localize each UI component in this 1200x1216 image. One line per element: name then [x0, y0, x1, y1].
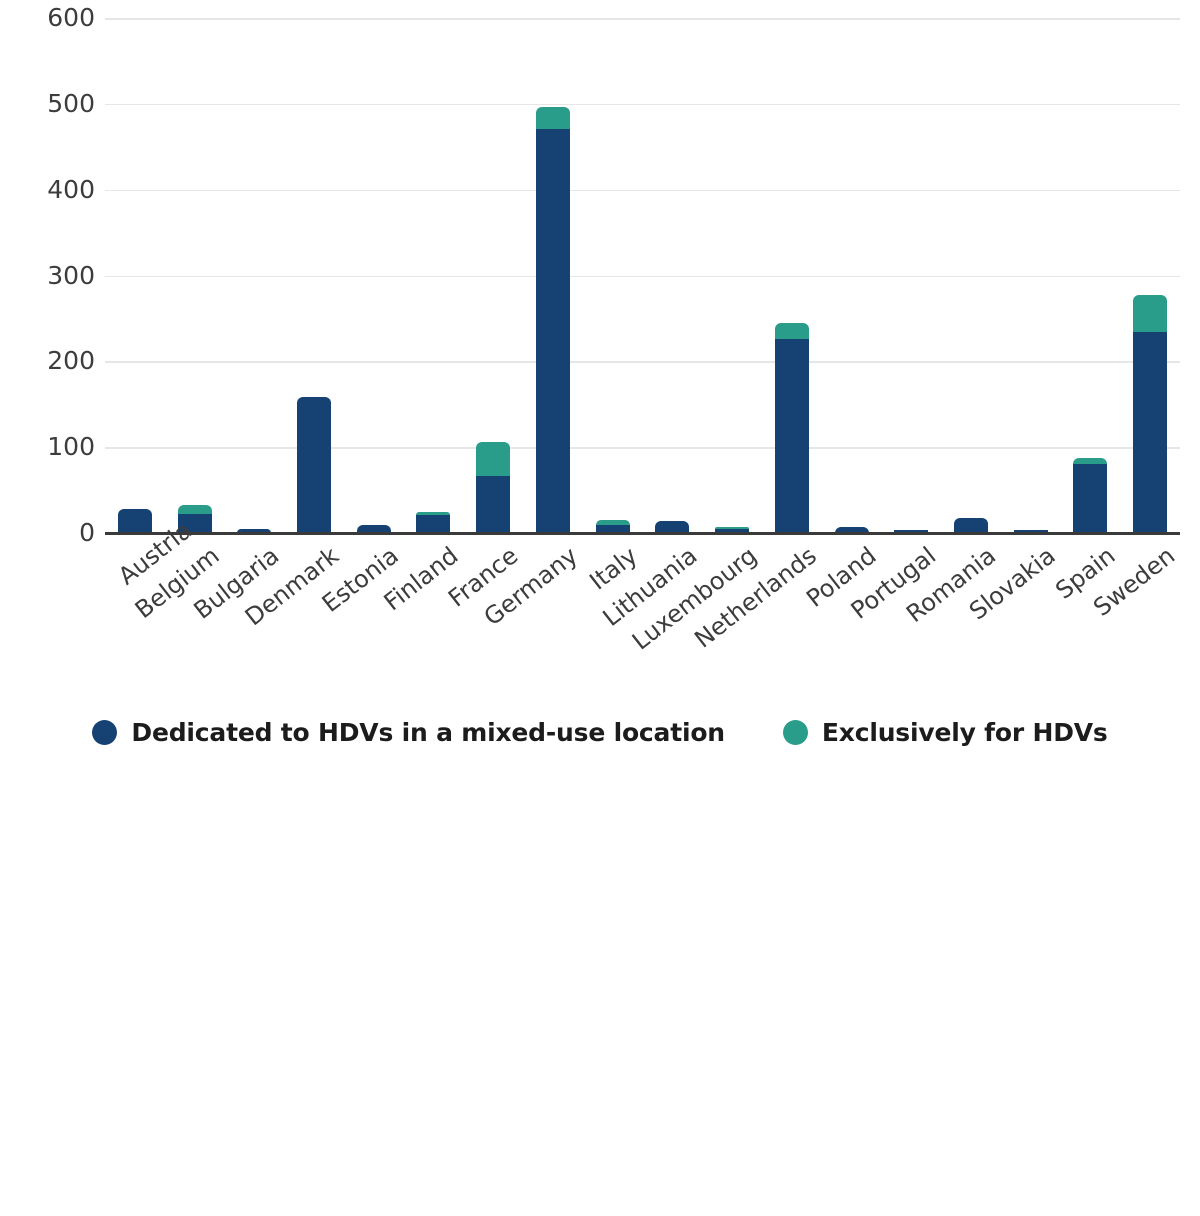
bar-group[interactable]	[954, 518, 988, 533]
y-axis: 6005004003002001000	[0, 0, 95, 560]
gridline	[105, 276, 1180, 278]
legend-swatch-circle-icon	[92, 720, 117, 745]
bar-segment[interactable]	[775, 339, 809, 533]
bar-segment[interactable]	[1073, 464, 1107, 533]
y-tick-label: 300	[5, 263, 95, 288]
bar-group[interactable]	[1133, 295, 1167, 533]
bar-segment[interactable]	[1133, 332, 1167, 533]
legend-item[interactable]: Exclusively for HDVs	[783, 718, 1108, 747]
bar-segment[interactable]	[775, 323, 809, 339]
bar-segment[interactable]	[536, 107, 570, 128]
legend-label: Exclusively for HDVs	[822, 718, 1108, 747]
gridline	[105, 104, 1180, 106]
chart-legend: Dedicated to HDVs in a mixed-use locatio…	[0, 718, 1200, 747]
bar-group[interactable]	[1073, 458, 1107, 533]
bar-segment[interactable]	[536, 129, 570, 533]
bar-segment[interactable]	[1133, 295, 1167, 332]
bar-segment[interactable]	[476, 476, 510, 534]
y-tick-label: 400	[5, 177, 95, 202]
legend-swatch-circle-icon	[783, 720, 808, 745]
bar-group[interactable]	[416, 512, 450, 533]
bar-group[interactable]	[118, 509, 152, 533]
bar-group[interactable]	[775, 323, 809, 533]
y-tick-label: 600	[5, 5, 95, 30]
gridline	[105, 18, 1180, 20]
x-axis-labels: AustriaBelgiumBulgariaDenmarkEstoniaFinl…	[105, 533, 1180, 663]
bar-group[interactable]	[297, 397, 331, 533]
bar-segment[interactable]	[416, 515, 450, 533]
bar-chart: 6005004003002001000 AustriaBelgiumBulgar…	[0, 0, 1200, 800]
gridline	[105, 447, 1180, 449]
gridline	[105, 190, 1180, 192]
bar-segment[interactable]	[476, 442, 510, 475]
bar-segment[interactable]	[118, 509, 152, 533]
bar-group[interactable]	[476, 442, 510, 533]
legend-label: Dedicated to HDVs in a mixed-use locatio…	[131, 718, 725, 747]
bar-group[interactable]	[536, 107, 570, 533]
y-tick-label: 200	[5, 348, 95, 373]
y-tick-label: 500	[5, 91, 95, 116]
bar-segment[interactable]	[178, 505, 212, 514]
y-tick-label: 100	[5, 434, 95, 459]
bar-segment[interactable]	[954, 518, 988, 533]
plot-area	[105, 18, 1180, 533]
y-tick-label: 0	[5, 520, 95, 545]
bar-segment[interactable]	[297, 397, 331, 533]
gridline	[105, 361, 1180, 363]
legend-item[interactable]: Dedicated to HDVs in a mixed-use locatio…	[92, 718, 725, 747]
